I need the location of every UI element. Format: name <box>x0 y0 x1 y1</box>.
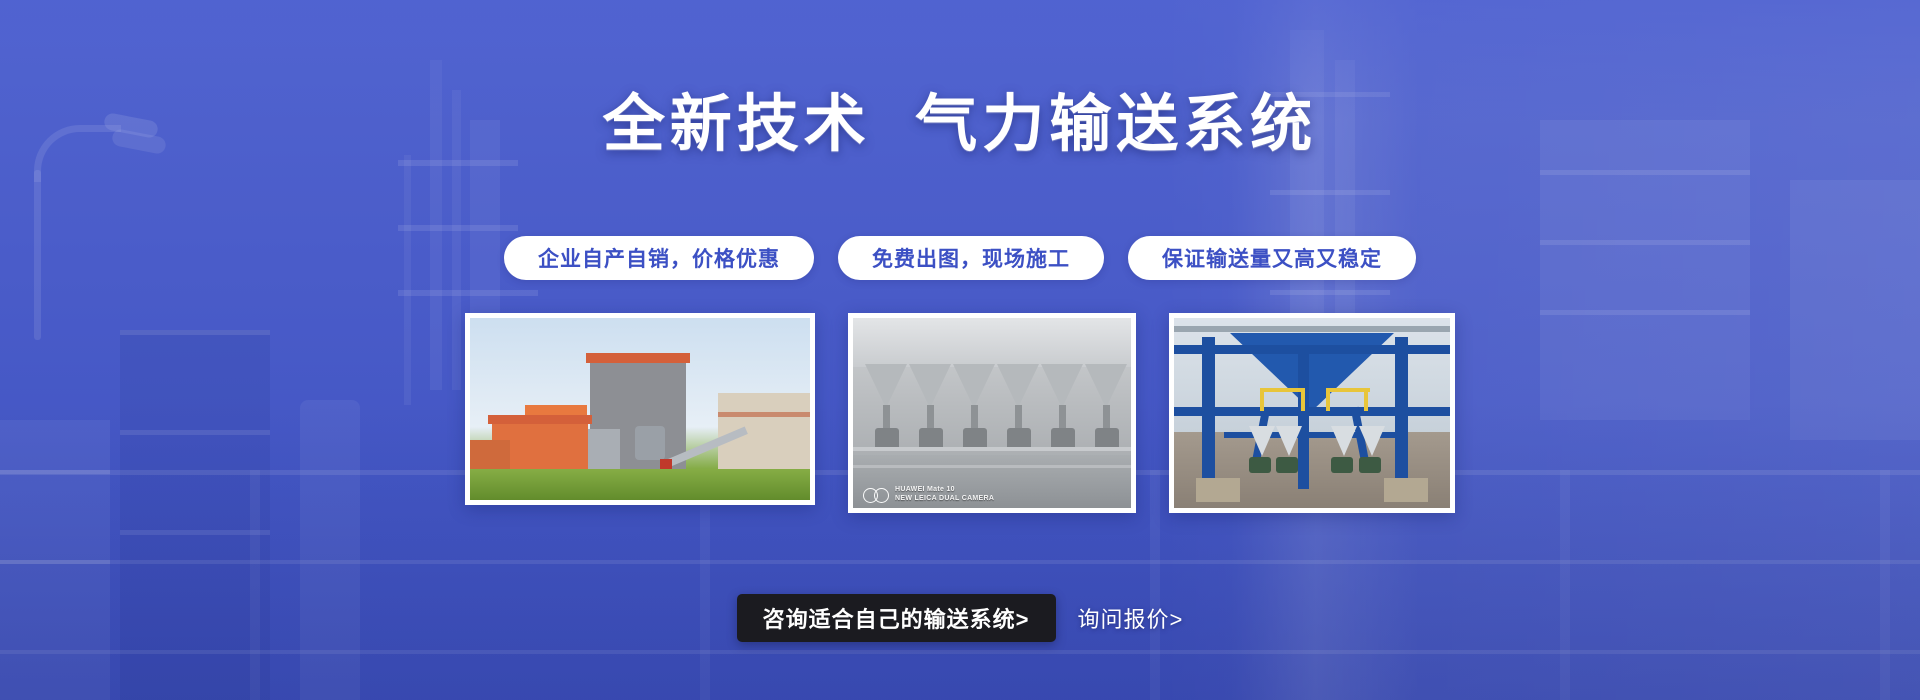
bg-ghost-shape <box>398 225 518 231</box>
plant-exterior-photo <box>470 318 810 500</box>
bg-ghost-shape <box>1270 190 1390 195</box>
blue-steel-structure-photo-card[interactable] <box>1169 313 1455 513</box>
request-quote-link[interactable]: 询问报价> <box>1078 602 1184 634</box>
consult-system-button[interactable]: 咨询适合自己的输送系统> <box>737 594 1056 642</box>
feature-badge-2-label: 免费出图，现场施工 <box>872 243 1070 273</box>
interior-hoppers-photo-card[interactable]: HUAWEI Mate 10 NEW LEICA DUAL CAMERA <box>848 313 1136 513</box>
bg-ghost-shape <box>398 290 538 296</box>
plant-exterior-photo-card[interactable] <box>465 313 815 505</box>
watermark-line-1: HUAWEI Mate 10 <box>895 486 955 493</box>
feature-badge-1-label: 企业自产自销，价格优惠 <box>538 243 780 273</box>
hero-banner: 全新技术 气力输送系统 企业自产自销，价格优惠 免费出图，现场施工 保证输送量又… <box>0 0 1920 700</box>
feature-badge-3-label: 保证输送量又高又稳定 <box>1162 243 1382 273</box>
page-title: 全新技术 气力输送系统 <box>0 86 1920 164</box>
camera-watermark: HUAWEI Mate 10 NEW LEICA DUAL CAMERA <box>863 485 994 503</box>
feature-badge-1: 企业自产自销，价格优惠 <box>504 236 814 280</box>
photo-gallery: HUAWEI Mate 10 NEW LEICA DUAL CAMERA <box>0 313 1920 513</box>
feature-badge-2: 免费出图，现场施工 <box>838 236 1104 280</box>
interior-hoppers-photo: HUAWEI Mate 10 NEW LEICA DUAL CAMERA <box>853 318 1131 508</box>
blue-steel-structure-photo <box>1174 318 1450 508</box>
cta-row: 咨询适合自己的输送系统> 询问报价> <box>0 594 1920 642</box>
leica-rings-icon <box>863 488 889 501</box>
feature-badge-list: 企业自产自销，价格优惠 免费出图，现场施工 保证输送量又高又稳定 <box>0 236 1920 280</box>
bg-ghost-shape <box>1540 170 1750 175</box>
feature-badge-3: 保证输送量又高又稳定 <box>1128 236 1416 280</box>
watermark-line-2: NEW LEICA DUAL CAMERA <box>895 495 994 502</box>
bg-ghost-shape <box>1270 290 1390 295</box>
